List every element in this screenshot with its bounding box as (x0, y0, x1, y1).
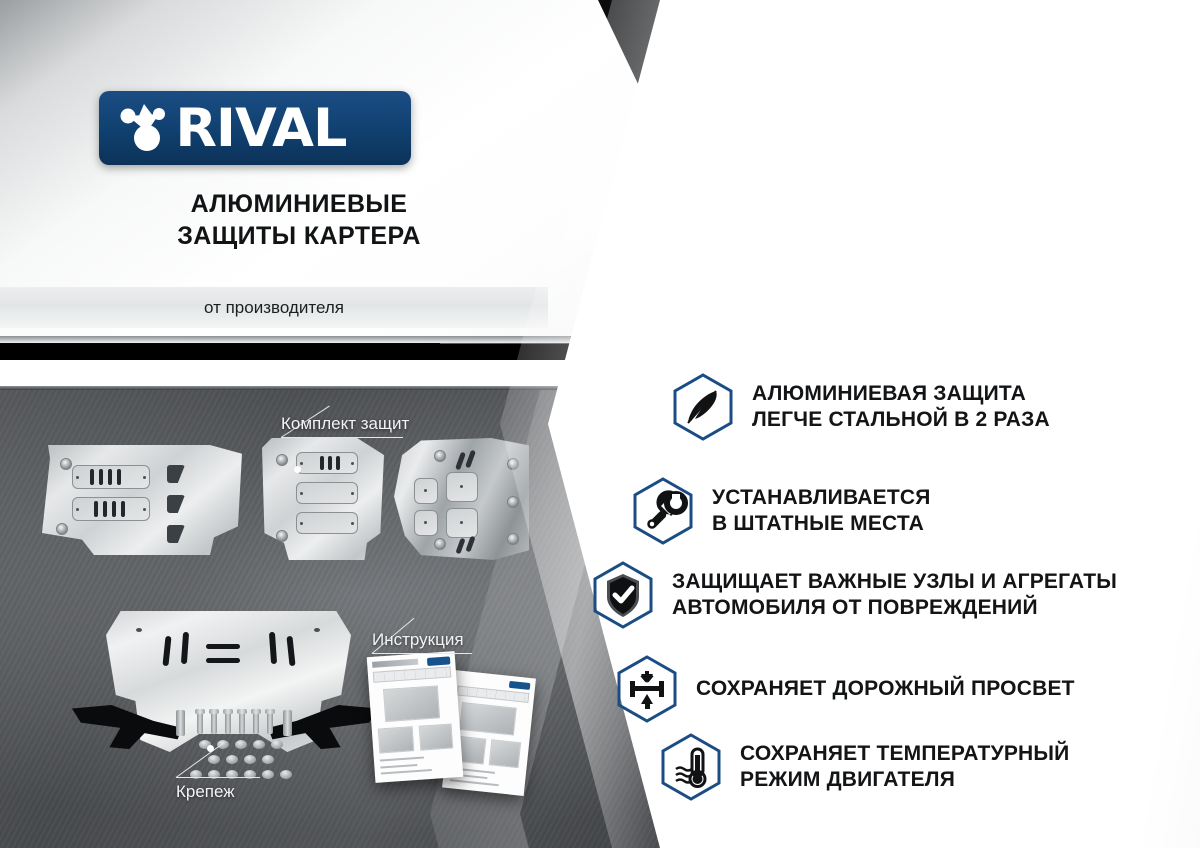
kit-leader-underline (281, 437, 403, 438)
label-instruction: Инструкция (372, 630, 464, 650)
wrench-icon (632, 477, 694, 545)
shield-check-icon (592, 561, 654, 629)
advantage-line-1-2: В ШТАТНЫЕ МЕСТА (712, 512, 924, 535)
advantage-line-4-2: РЕЖИМ ДВИГАТЕЛЯ (740, 768, 955, 791)
label-hardware: Крепеж (176, 782, 235, 802)
advantage-text-4: СОХРАНЯЕТ ТЕМПЕРАТУРНЫЙ РЕЖИМ ДВИГАТЕЛЯ (740, 741, 1069, 793)
hardware-leader-underline (176, 777, 260, 778)
hardware-group (175, 710, 295, 782)
advantage-text-2: ЗАЩИЩАЕТ ВАЖНЫЕ УЗЛЫ И АГРЕГАТЫ АВТОМОБИ… (672, 569, 1117, 621)
molecule-icon (113, 102, 175, 154)
thermometer-icon (660, 733, 722, 801)
advantage-text-3: СОХРАНЯЕТ ДОРОЖНЫЙ ПРОСВЕТ (696, 676, 1075, 702)
headline-line-1: АЛЮМИНИЕВЫЕ (0, 188, 598, 220)
promo-banner: Преимущества RIVAL (0, 0, 1200, 848)
hardware-leader-dot (207, 745, 214, 752)
advantage-line-2-2: АВТОМОБИЛЯ ОТ ПОВРЕЖДЕНИЙ (672, 596, 1038, 619)
advantage-line-3-1: СОХРАНЯЕТ ДОРОЖНЫЙ ПРОСВЕТ (696, 677, 1075, 700)
feather-icon (672, 373, 734, 441)
advantage-item-0: АЛЮМИНИЕВАЯ ЗАЩИТА ЛЕГЧЕ СТАЛЬНОЙ В 2 РА… (672, 373, 1050, 441)
advantage-line-0-2: ЛЕГЧЕ СТАЛЬНОЙ В 2 РАЗА (752, 408, 1050, 431)
dark-divider-strip (0, 344, 600, 360)
header-card: RIVAL АЛЮМИНИЕВЫЕ ЗАЩИТЫ КАРТЕРА от прои… (0, 0, 680, 343)
advantage-item-2: ЗАЩИЩАЕТ ВАЖНЫЕ УЗЛЫ И АГРЕГАТЫ АВТОМОБИ… (592, 561, 1117, 629)
skid-plate-b (262, 438, 384, 560)
advantage-line-4-1: СОХРАНЯЕТ ТЕМПЕРАТУРНЫЙ (740, 742, 1069, 765)
instruction-sheet-front (367, 651, 464, 783)
page-title: АЛЮМИНИЕВЫЕ ЗАЩИТЫ КАРТЕРА (0, 188, 598, 252)
advantage-text-1: УСТАНАВЛИВАЕТСЯ В ШТАТНЫЕ МЕСТА (712, 485, 931, 537)
instruction-leader-underline (372, 653, 472, 654)
subtitle-bar: от производителя (0, 287, 548, 328)
subtitle-text: от производителя (204, 298, 344, 318)
kit-leader-dot (294, 466, 301, 473)
header-card-shadow (0, 336, 660, 344)
headline-line-2: ЗАЩИТЫ КАРТЕРА (0, 220, 598, 252)
skid-plate-a (42, 445, 242, 555)
advantage-line-0-1: АЛЮМИНИЕВАЯ ЗАЩИТА (752, 382, 1026, 405)
advantage-item-1: УСТАНАВЛИВАЕТСЯ В ШТАТНЫЕ МЕСТА (632, 477, 931, 545)
rival-logo: RIVAL (99, 91, 411, 165)
advantage-line-1-1: УСТАНАВЛИВАЕТСЯ (712, 486, 931, 509)
ground-clearance-icon (616, 655, 678, 723)
skid-plate-c (394, 438, 529, 560)
label-kit: Комплект защит (281, 414, 409, 434)
advantage-item-3: СОХРАНЯЕТ ДОРОЖНЫЙ ПРОСВЕТ (616, 655, 1075, 723)
logo-wordmark: RIVAL (175, 102, 346, 155)
advantage-item-4: СОХРАНЯЕТ ТЕМПЕРАТУРНЫЙ РЕЖИМ ДВИГАТЕЛЯ (660, 733, 1069, 801)
advantage-text-0: АЛЮМИНИЕВАЯ ЗАЩИТА ЛЕГЧЕ СТАЛЬНОЙ В 2 РА… (752, 381, 1050, 433)
advantage-line-2-1: ЗАЩИЩАЕТ ВАЖНЫЕ УЗЛЫ И АГРЕГАТЫ (672, 570, 1117, 593)
